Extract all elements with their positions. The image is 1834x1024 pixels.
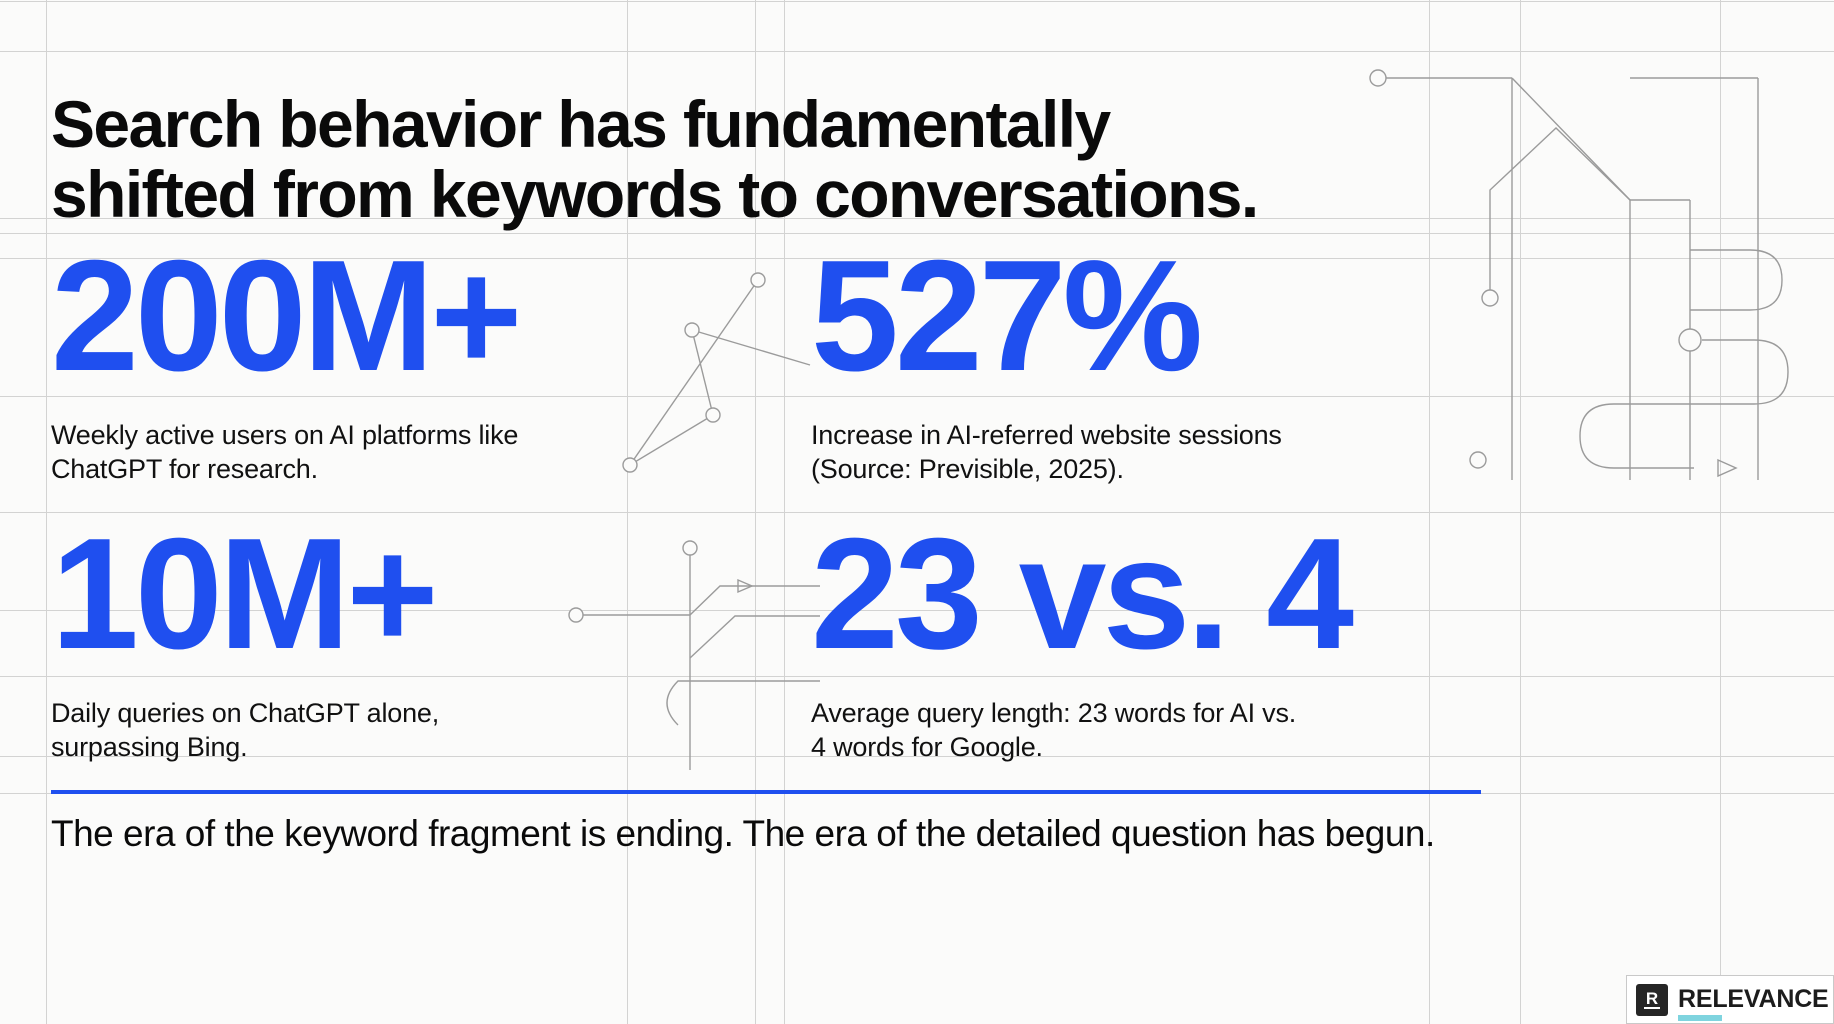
- stat-caption: Daily queries on ChatGPT alone, surpassi…: [51, 696, 439, 765]
- stat-block: 527% Increase in AI-referred website ses…: [811, 252, 1282, 487]
- relevance-mark-underline: [1644, 1007, 1660, 1009]
- closing-statement: The era of the keyword fragment is endin…: [51, 812, 1751, 856]
- relevance-logo: R RELEVANCE: [1626, 975, 1834, 1024]
- stat-value: 10M+: [51, 530, 439, 660]
- page-title: Search behavior has fundamentally shifte…: [51, 90, 1351, 230]
- relevance-mark-icon: R: [1636, 984, 1668, 1016]
- relevance-accent-bar: [1678, 1015, 1722, 1021]
- stat-caption: Weekly active users on AI platforms like…: [51, 418, 519, 487]
- stat-value: 200M+: [51, 252, 519, 382]
- stat-caption: Increase in AI-referred website sessions…: [811, 418, 1282, 487]
- closing-divider: [51, 790, 1481, 794]
- slide-canvas: Search behavior has fundamentally shifte…: [0, 0, 1834, 1024]
- relevance-mark-letter: R: [1646, 990, 1658, 1007]
- stat-value: 527%: [811, 252, 1282, 382]
- relevance-wordmark-wrap: RELEVANCE: [1678, 987, 1829, 1012]
- stat-block: 23 vs. 4 Average query length: 23 words …: [811, 530, 1350, 765]
- relevance-wordmark: RELEVANCE: [1678, 987, 1829, 1012]
- stat-caption: Average query length: 23 words for AI vs…: [811, 696, 1350, 765]
- stat-block: 10M+ Daily queries on ChatGPT alone, sur…: [51, 530, 439, 765]
- stat-value: 23 vs. 4: [811, 530, 1350, 660]
- stat-block: 200M+ Weekly active users on AI platform…: [51, 252, 519, 487]
